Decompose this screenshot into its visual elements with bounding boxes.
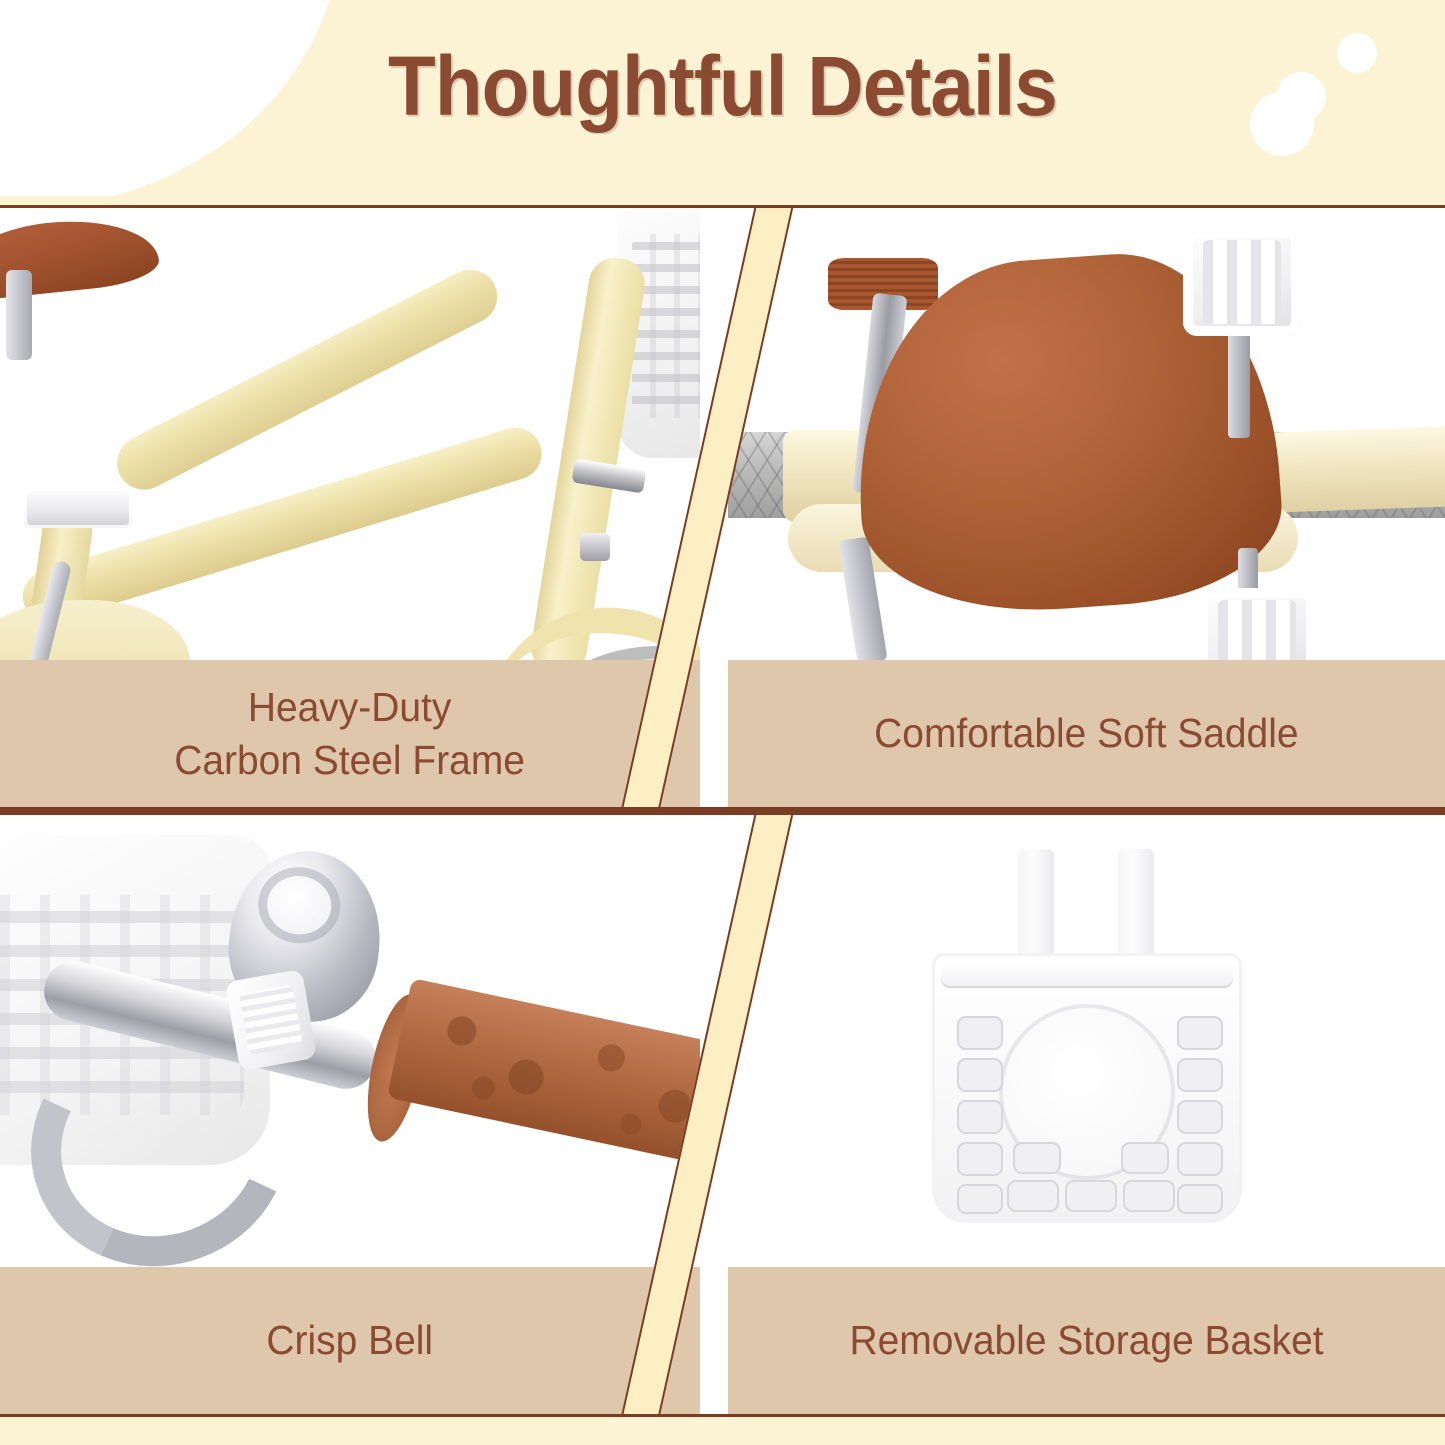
panel-bell: Crisp Bell	[0, 815, 700, 1414]
caption-bar-bell: Crisp Bell	[0, 1267, 700, 1414]
caption-bar-saddle: Comfortable Soft Saddle	[728, 660, 1445, 807]
basket-hole	[1013, 1142, 1061, 1174]
page-title: Thoughtful Details	[51, 38, 1395, 135]
panel-frame: Heavy-Duty Carbon Steel Frame	[0, 208, 700, 807]
rear-pedal-icon	[24, 488, 132, 528]
panel-basket: Removable Storage Basket	[728, 815, 1445, 1414]
basket-hole	[1177, 1058, 1223, 1092]
basket-hole	[1177, 1184, 1223, 1214]
feature-row-bottom: Crisp Bell	[0, 812, 1445, 1417]
caption-bar-basket: Removable Storage Basket	[728, 1267, 1445, 1414]
frame-photo	[0, 208, 700, 660]
basket-hole	[957, 1016, 1003, 1050]
caption-text-saddle: Comfortable Soft Saddle	[874, 707, 1298, 759]
basket-hole	[1007, 1180, 1059, 1212]
chain-guard	[0, 600, 190, 660]
bell-photo	[0, 815, 700, 1267]
basket-hole	[957, 1184, 1003, 1214]
brown-handle-grip	[387, 978, 700, 1166]
basket-hole	[1065, 1180, 1117, 1212]
basket-body	[932, 953, 1242, 1223]
basket-hole	[1123, 1180, 1175, 1212]
seat-post	[6, 270, 32, 360]
frame-bolt	[580, 533, 610, 561]
pedal-stem-upper	[1228, 328, 1250, 438]
basket-strap-right	[1118, 849, 1154, 967]
basket-strap-left	[1018, 849, 1054, 967]
panel-saddle: Comfortable Soft Saddle	[728, 208, 1445, 807]
saddle-photo	[728, 208, 1445, 660]
feature-row-top: Heavy-Duty Carbon Steel Frame Comfortabl	[0, 205, 1445, 810]
caption-bar-frame: Heavy-Duty Carbon Steel Frame	[0, 660, 700, 807]
basket-rim	[941, 962, 1233, 988]
infographic-page: Thoughtful Details Heavy	[0, 0, 1445, 1445]
storage-basket-icon	[932, 849, 1242, 1229]
basket-photo	[728, 815, 1445, 1267]
basket-hole	[957, 1100, 1003, 1134]
pedal-upper-icon	[1183, 228, 1301, 336]
header-banner: Thoughtful Details	[0, 0, 1445, 196]
basket-hole	[1177, 1100, 1223, 1134]
basket-hole	[957, 1058, 1003, 1092]
pedal-lower-icon	[1198, 588, 1316, 660]
bell-lever-icon	[225, 969, 317, 1071]
head-tube	[527, 254, 648, 660]
basket-hole	[1177, 1142, 1223, 1176]
footer-strip	[0, 1417, 1445, 1445]
basket-hole	[1177, 1016, 1223, 1050]
caption-text-basket: Removable Storage Basket	[849, 1314, 1323, 1366]
caption-text-bell: Crisp Bell	[267, 1314, 434, 1366]
caption-text-frame: Heavy-Duty Carbon Steel Frame	[175, 681, 526, 786]
basket-hole	[957, 1142, 1003, 1176]
basket-hole	[1121, 1142, 1169, 1174]
